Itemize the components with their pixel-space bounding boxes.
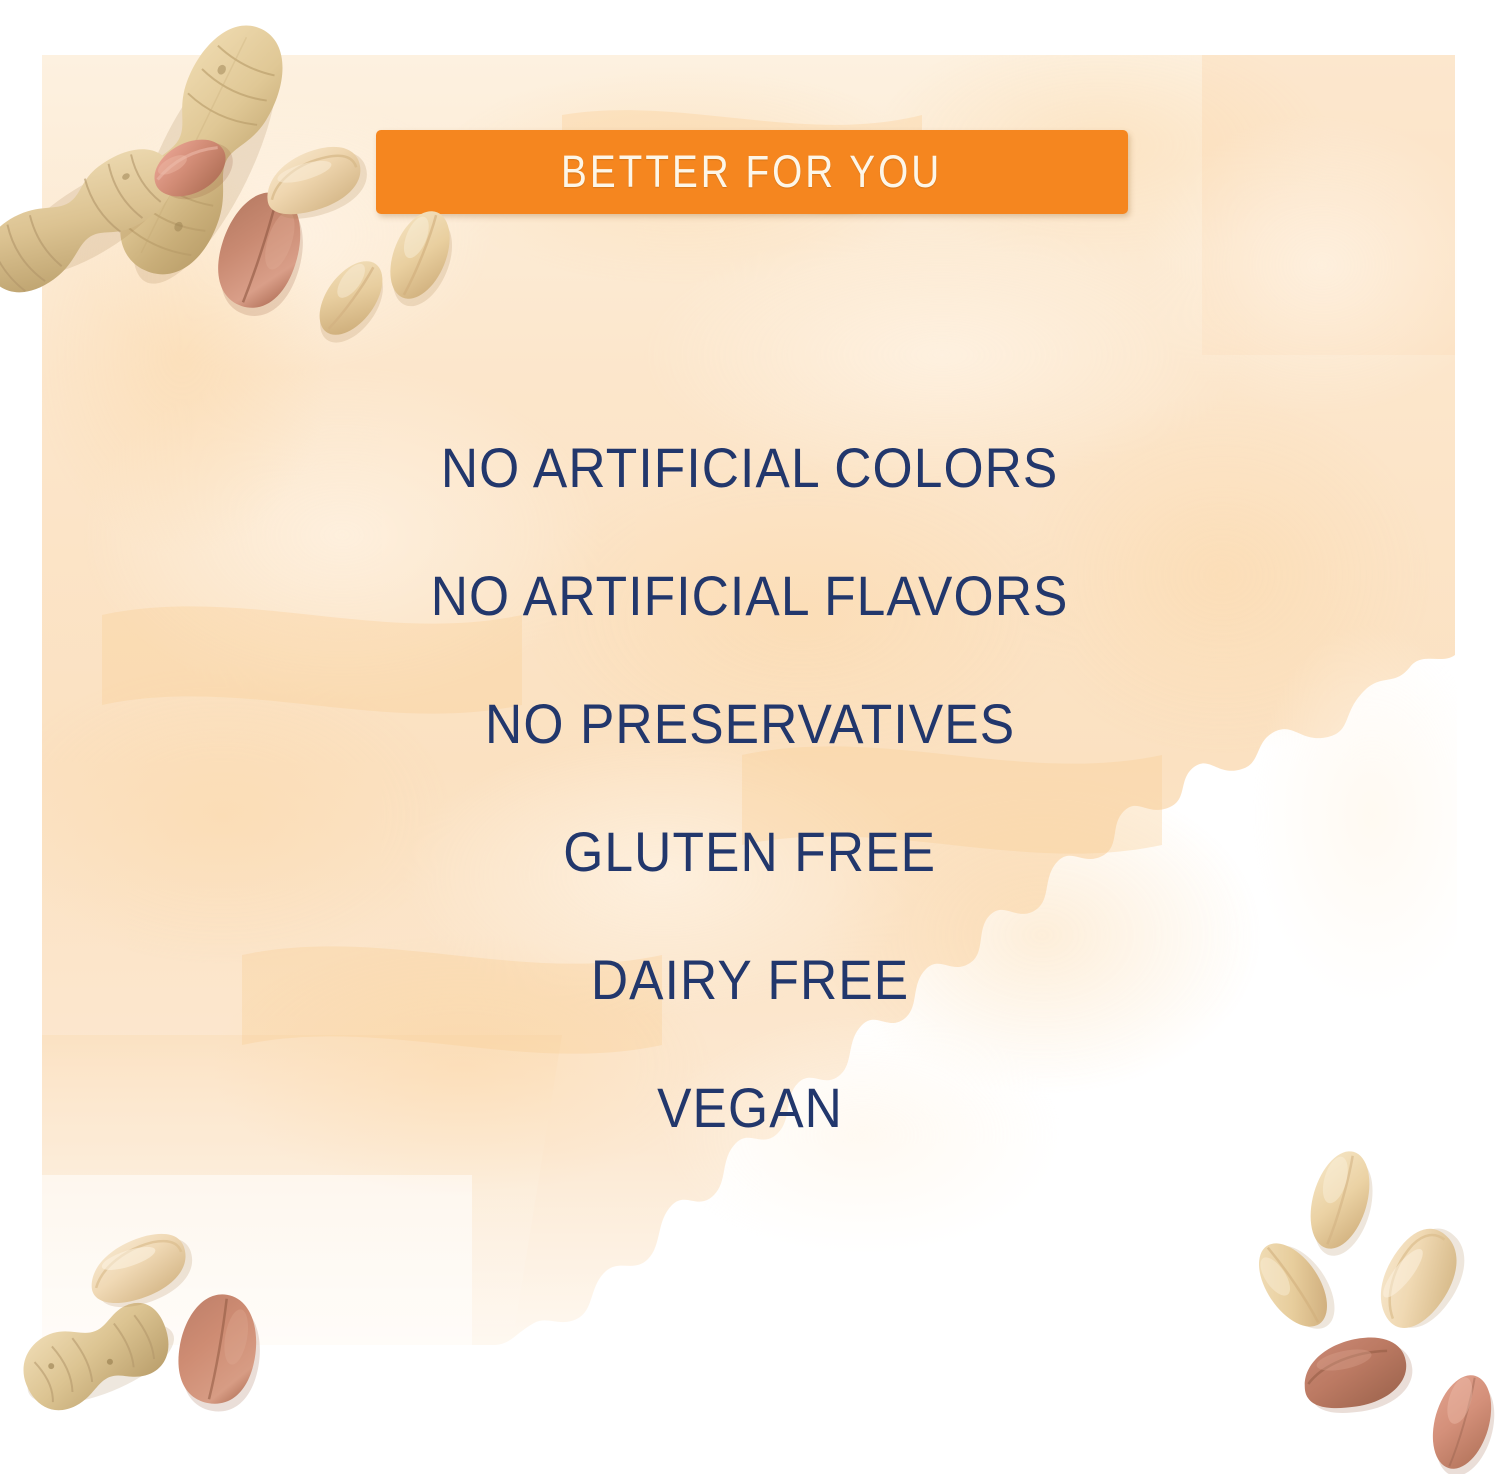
peanut-kernel-light-icon [1362,1228,1482,1338]
peanut-kernel-red-icon [168,1288,268,1408]
peanut-shell-icon [8,1290,178,1430]
peanut-kernel-red-icon [1295,1328,1415,1418]
banner-title: BETTER FOR YOU [561,146,942,198]
claims-list: NO ARTIFICIAL COLORS NO ARTIFICIAL FLAVO… [0,404,1500,1172]
peanut-kernel-red-icon [1412,1362,1500,1474]
better-for-you-banner: BETTER FOR YOU [376,130,1128,214]
peanut-kernel-light-icon [370,200,470,310]
claim-item: VEGAN [657,1044,843,1172]
claim-item: NO ARTIFICIAL FLAVORS [431,532,1069,660]
peanut-kernel-light-icon [252,140,372,220]
claim-item: NO ARTIFICIAL COLORS [441,404,1059,532]
claim-item: NO PRESERVATIVES [485,660,1015,788]
claim-item: DAIRY FREE [591,916,909,1044]
peanut-kernel-light-icon [1238,1230,1348,1340]
poster-canvas: BETTER FOR YOU NO ARTIFICIAL COLORS NO A… [0,0,1500,1474]
claim-item: GLUTEN FREE [564,788,937,916]
